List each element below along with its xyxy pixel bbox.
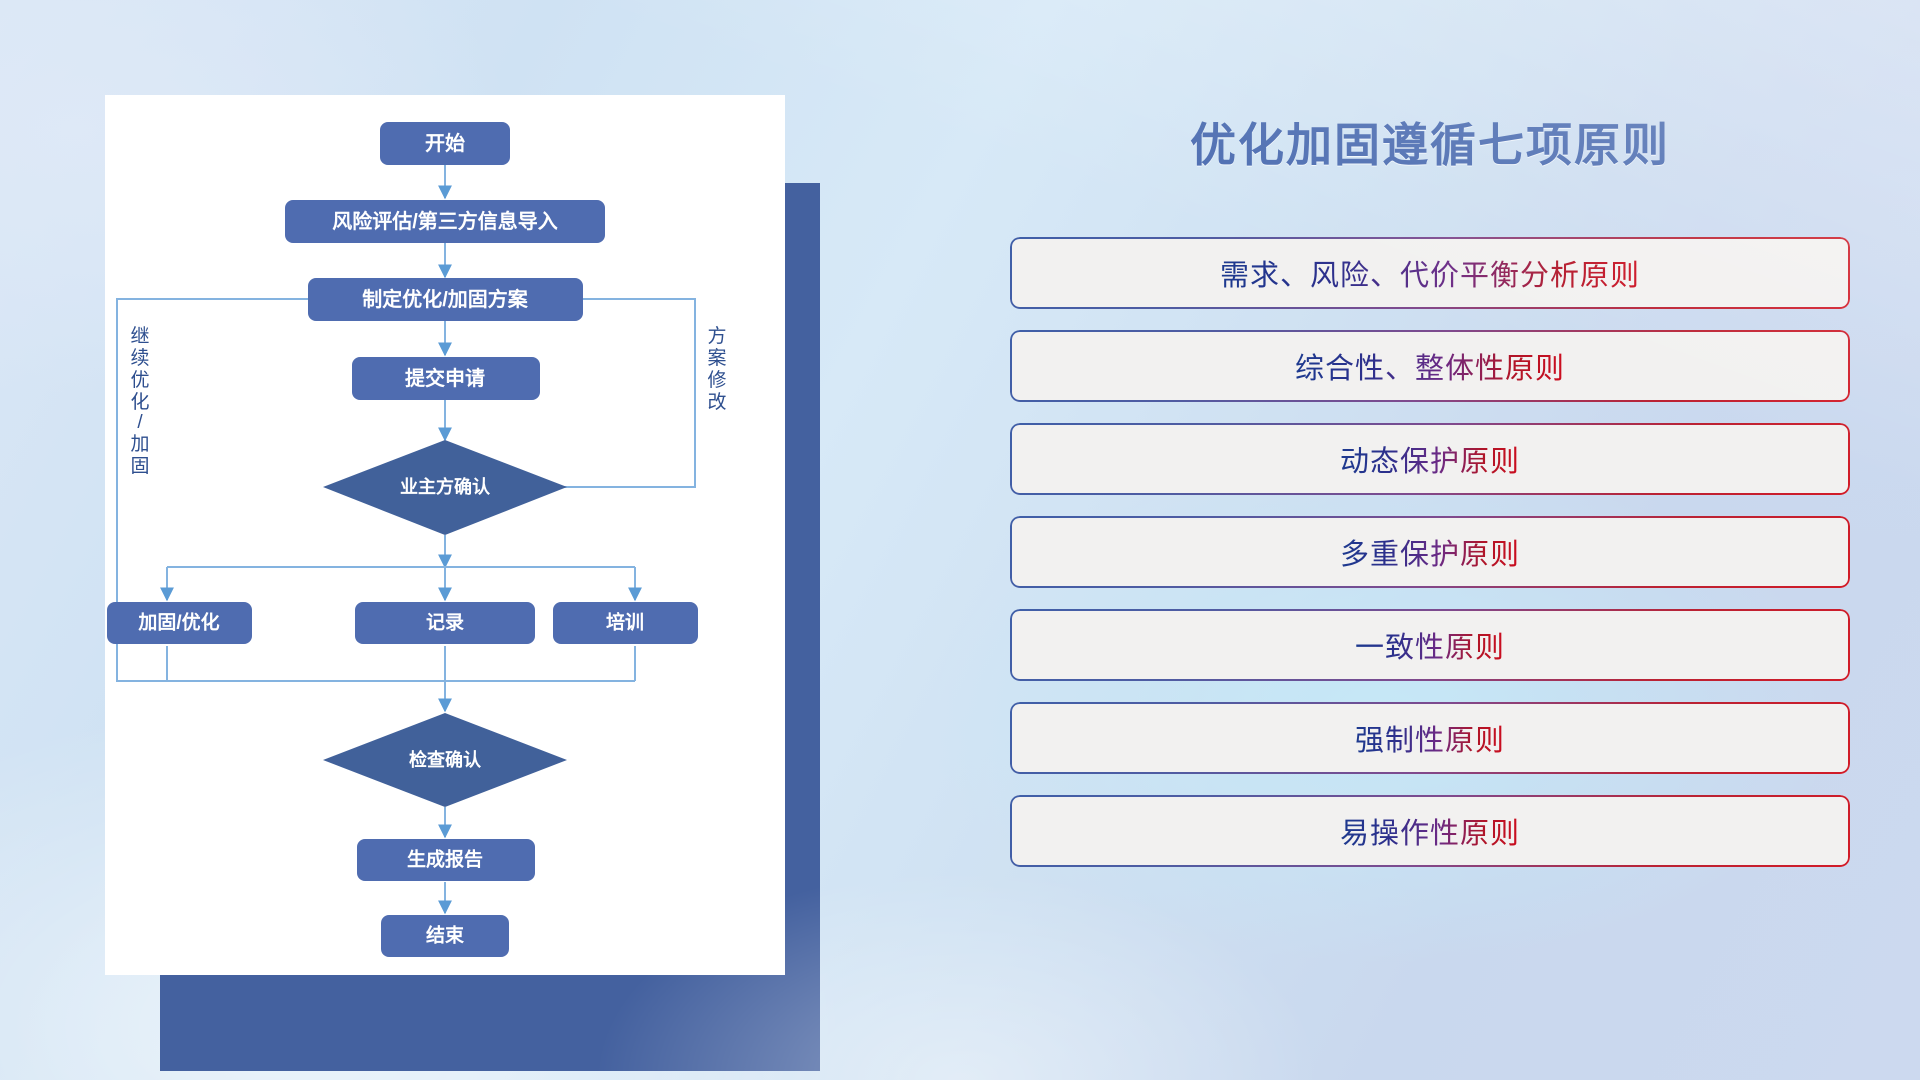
node-check-confirm-label: 检查确认 [409, 749, 482, 770]
principle-label-1: 需求、风险、代价平衡分析原则 [1220, 252, 1640, 294]
flowchart-diagram: 开始 风险评估/第三方信息导入 制定优化/加固方案 提交申请 业主方确认 加固/ [105, 95, 785, 975]
principle-card-3[interactable]: 动态保护原则 [1010, 423, 1850, 495]
left-loop-char-4: / [137, 412, 143, 433]
right-loop-char-3: 改 [707, 391, 726, 413]
principle-label-2: 综合性、整体性原则 [1295, 345, 1565, 387]
node-end-label: 结束 [426, 924, 465, 947]
node-generate-report[interactable]: 生成报告 [357, 839, 535, 881]
principle-label-3: 动态保护原则 [1340, 438, 1520, 480]
edge-label-right-loop: 方 案 修 改 [707, 325, 726, 413]
principle-card-7[interactable]: 易操作性原则 [1010, 795, 1850, 867]
node-risk-assessment-label: 风险评估/第三方信息导入 [332, 209, 558, 233]
principle-card-5[interactable]: 一致性原则 [1010, 609, 1850, 681]
node-start-label: 开始 [425, 131, 465, 155]
principles-list: 需求、风险、代价平衡分析原则 综合性、整体性原则 动态保护原则 多重保护原则 一… [1010, 237, 1850, 867]
node-submit-application-label: 提交申请 [405, 366, 485, 390]
node-risk-assessment[interactable]: 风险评估/第三方信息导入 [285, 200, 605, 243]
edge-label-left-loop: 继 续 优 化 / 加 固 [130, 325, 149, 477]
flowchart-card: 开始 风险评估/第三方信息导入 制定优化/加固方案 提交申请 业主方确认 加固/ [105, 95, 785, 975]
principle-label-5: 一致性原则 [1355, 624, 1505, 666]
left-loop-char-6: 固 [130, 456, 149, 477]
edge-split-down-group [167, 567, 635, 600]
node-reinforce-optimize-label: 加固/优化 [137, 611, 219, 634]
edge-merge-bus [167, 646, 635, 681]
left-loop-char-3: 化 [130, 391, 149, 413]
left-loop-char-0: 继 [130, 325, 149, 347]
principle-card-1[interactable]: 需求、风险、代价平衡分析原则 [1010, 237, 1850, 309]
left-loop-char-1: 续 [130, 347, 149, 369]
node-check-confirm[interactable]: 检查确认 [323, 713, 567, 807]
node-record[interactable]: 记录 [355, 602, 535, 644]
node-owner-confirm-label: 业主方确认 [400, 476, 491, 497]
left-loop-char-5: 加 [130, 433, 149, 455]
right-loop-char-0: 方 [707, 325, 726, 347]
principles-panel: 优化加固遵循七项原则 需求、风险、代价平衡分析原则 综合性、整体性原则 动态保护… [1010, 95, 1850, 1025]
principle-label-7: 易操作性原则 [1340, 810, 1520, 852]
node-make-plan[interactable]: 制定优化/加固方案 [308, 278, 583, 321]
node-record-label: 记录 [426, 612, 464, 634]
node-training[interactable]: 培训 [553, 602, 698, 644]
node-end[interactable]: 结束 [381, 915, 509, 957]
principle-card-4[interactable]: 多重保护原则 [1010, 516, 1850, 588]
node-start[interactable]: 开始 [380, 122, 510, 165]
principle-label-4: 多重保护原则 [1340, 531, 1520, 573]
node-make-plan-label: 制定优化/加固方案 [362, 287, 529, 311]
principle-label-6: 强制性原则 [1355, 717, 1505, 759]
left-loop-char-2: 优 [130, 369, 149, 391]
slide-canvas: 开始 风险评估/第三方信息导入 制定优化/加固方案 提交申请 业主方确认 加固/ [0, 0, 1920, 1080]
node-owner-confirm[interactable]: 业主方确认 [323, 440, 567, 535]
principle-card-2[interactable]: 综合性、整体性原则 [1010, 330, 1850, 402]
node-reinforce-optimize[interactable]: 加固/优化 [107, 602, 252, 644]
principle-card-6[interactable]: 强制性原则 [1010, 702, 1850, 774]
right-loop-char-1: 案 [707, 347, 726, 369]
node-generate-report-label: 生成报告 [407, 848, 483, 871]
page-title: 优化加固遵循七项原则 [1010, 109, 1850, 175]
node-submit-application[interactable]: 提交申请 [352, 357, 540, 400]
node-training-label: 培训 [606, 611, 644, 634]
right-loop-char-2: 修 [707, 369, 726, 391]
